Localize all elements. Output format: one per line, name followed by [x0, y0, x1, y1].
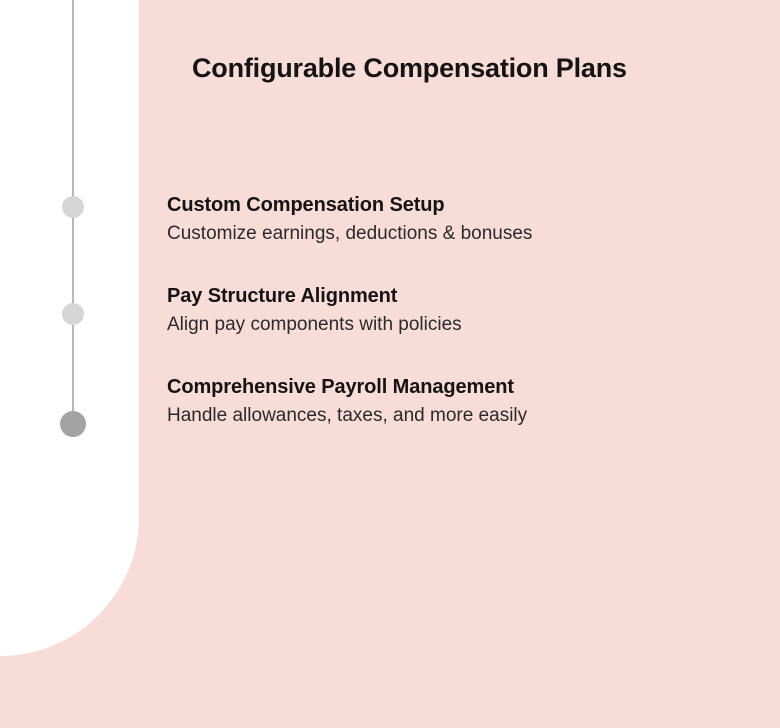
list-item: Comprehensive Payroll Management Handle … — [167, 374, 767, 429]
feature-description-3: Handle allowances, taxes, and more easil… — [167, 403, 767, 429]
timeline-dot-icon-2 — [62, 303, 84, 325]
feature-heading-1: Custom Compensation Setup — [167, 192, 767, 218]
feature-description-2: Align pay components with policies — [167, 312, 767, 338]
feature-description-1: Customize earnings, deductions & bonuses — [167, 221, 767, 247]
timeline-rail — [72, 0, 74, 437]
feature-heading-3: Comprehensive Payroll Management — [167, 374, 767, 400]
list-item: Custom Compensation Setup Customize earn… — [167, 192, 767, 247]
page-title: Configurable Compensation Plans — [192, 53, 627, 84]
left-white-panel — [0, 0, 139, 656]
timeline-dot-icon-3 — [60, 411, 86, 437]
list-item: Pay Structure Alignment Align pay compon… — [167, 283, 767, 338]
content-column: Configurable Compensation Plans Custom C… — [167, 0, 767, 728]
slide-root: Configurable Compensation Plans Custom C… — [0, 0, 780, 728]
feature-heading-2: Pay Structure Alignment — [167, 283, 767, 309]
feature-list: Custom Compensation Setup Customize earn… — [167, 192, 767, 429]
timeline-dot-icon-1 — [62, 196, 84, 218]
